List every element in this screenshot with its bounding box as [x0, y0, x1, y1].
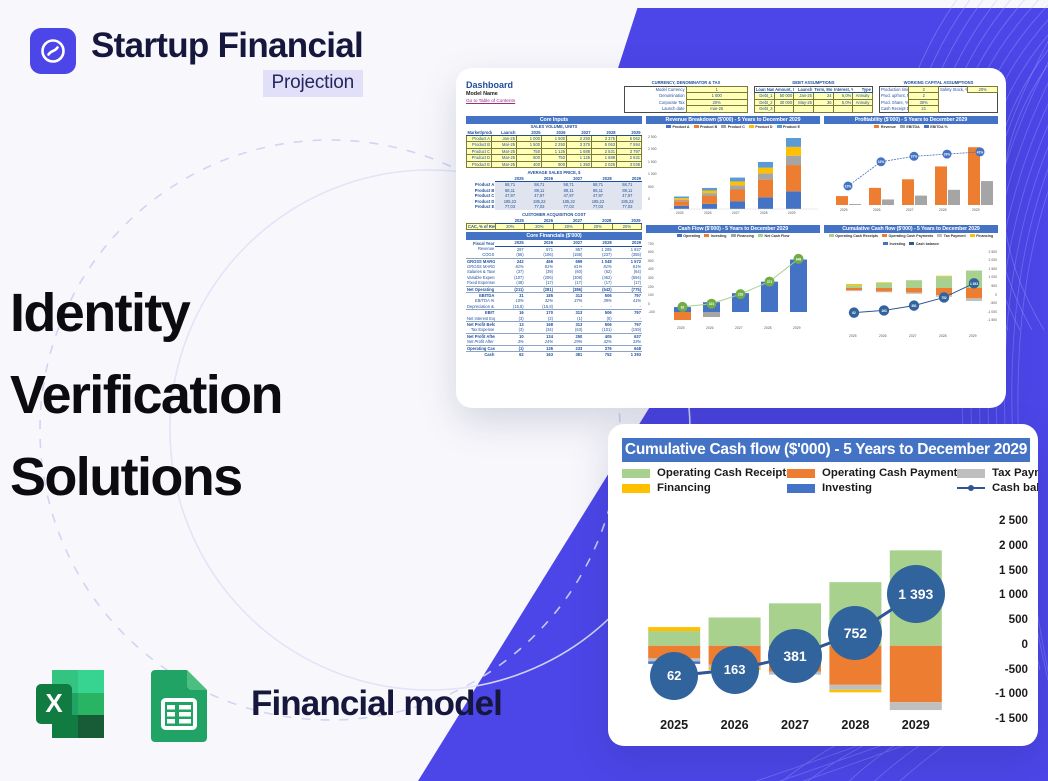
cash-balance-data-label: 1 393: [887, 565, 945, 623]
table-cell: 62: [495, 352, 524, 358]
bar-financing: [829, 690, 881, 693]
y-axis-tick-label: 500: [1009, 613, 1028, 626]
svg-text:218: 218: [738, 292, 744, 296]
table-row: Launch datemar-25: [625, 106, 748, 112]
sales-volume-table: Market/productLaunch20252026202720282029…: [466, 130, 642, 168]
legend-swatch: [622, 484, 650, 493]
dashboard-title: Dashboard: [466, 80, 624, 90]
x-tick-label: 2028: [939, 208, 947, 212]
table-cell: Salaries & Taxes: [466, 269, 495, 274]
y-tick-label: 0: [995, 293, 997, 297]
y-axis-tick-label: -1 500: [995, 712, 1028, 725]
svg-text:648: 648: [796, 257, 802, 261]
table-cell: 900: [542, 161, 567, 167]
legend-item: Tax Payment: [957, 467, 1038, 479]
legend-item: Operating Cash Receipts: [622, 467, 787, 479]
table-cell: 2 025: [592, 161, 617, 167]
mini-plot: [646, 129, 820, 221]
table-cell: Cash Receipt Days: [879, 106, 909, 112]
svg-text:62: 62: [681, 305, 685, 309]
brand-subtitle: Projection: [263, 70, 364, 97]
table-cell: Operating Cash Flows: [466, 345, 495, 351]
table-cell: Mar-25: [492, 161, 517, 167]
table-cell: [774, 106, 794, 112]
core-financials-table: Fiscal Year20252026202720282029Revenue29…: [466, 240, 642, 357]
table-cell: Tax Expense: [466, 327, 495, 333]
bar-tax-payment: [829, 685, 881, 690]
chart-plot-area: 621633817521 3932 5002 0001 5001 0005000…: [622, 516, 1030, 736]
y-tick-label: 1 500: [989, 267, 998, 271]
y-tick-label: 400: [648, 267, 654, 271]
x-tick-label: 2027: [735, 326, 743, 330]
table-cell: [938, 106, 968, 112]
legend-swatch: [874, 125, 879, 128]
table-row: CAC, % of Revenue20%20%20%20%20%: [467, 223, 642, 229]
table-cell: Prod. Share, %: [879, 99, 909, 105]
legend-swatch: [758, 234, 763, 237]
table-cell: Prod. upfront, Mo: [879, 93, 909, 99]
table-cell: 77,03: [495, 204, 524, 209]
table-cell: Net Operating Expenses: [466, 286, 495, 292]
page-headline: IdentityVerificationSolutions: [10, 272, 282, 518]
y-tick-label: 500: [648, 259, 654, 263]
debt-table: Loan NameAmount, $LaunchTerm, MoInterest…: [754, 86, 873, 113]
headline-line: Identity: [10, 272, 282, 354]
table-cell: 77,03: [525, 204, 554, 209]
x-tick-label: 2027: [909, 334, 917, 338]
y-axis-tick-label: 0: [1022, 638, 1028, 651]
svg-text:37%: 37%: [911, 154, 918, 158]
dashboard-screenshot-card[interactable]: Dashboard Model Name Go to Table of Cont…: [456, 68, 1006, 408]
legend-item: Investing: [787, 482, 957, 494]
y-tick-label: 0: [648, 302, 650, 306]
bar-financing: [648, 627, 700, 631]
legend-swatch: [749, 125, 754, 128]
svg-text:101: 101: [709, 302, 715, 306]
table-cell: 163: [525, 352, 554, 358]
headline-line: Solutions: [10, 436, 282, 518]
table-cell: Launch date: [625, 106, 686, 112]
chart-title: Cumulative Cash flow ($'000) - 5 Years t…: [622, 438, 1030, 462]
table-cell: 77,03: [554, 204, 583, 209]
svg-text:39%: 39%: [944, 152, 951, 156]
legend-swatch: [957, 484, 985, 493]
mini-chart-title: Revenue Breakdown ($'000) - 5 Years to D…: [646, 116, 820, 124]
legend-swatch: [731, 234, 736, 237]
table-cell: Term, Mo: [813, 87, 833, 93]
legend-swatch: [677, 234, 682, 237]
legend-swatch: [882, 234, 887, 237]
core-inputs-header: Core Inputs: [466, 116, 642, 124]
y-tick-label: 600: [648, 250, 654, 254]
y-tick-label: 2 000: [989, 258, 998, 262]
mini-chart-profitability[interactable]: Profitability ($'000) - 5 Years to Decem…: [824, 116, 998, 221]
brand-lockup: Startup Financial Projection: [30, 28, 363, 97]
table-cell: [794, 106, 814, 112]
cash-balance-data-label: 163: [711, 646, 759, 694]
legend-label: Financing: [657, 482, 711, 494]
toc-link[interactable]: Go to Table of Contents: [466, 98, 624, 103]
y-axis-tick-label: 1 500: [999, 564, 1028, 577]
legend-label: Financing: [976, 234, 993, 238]
y-axis-tick-label: -500: [1005, 663, 1028, 676]
table-cell: 20%: [554, 223, 583, 229]
table-cell: Debt_3: [754, 106, 774, 112]
x-tick-label: 2029: [793, 326, 801, 330]
link-loop-icon: [39, 37, 67, 65]
y-tick-label: -1 000: [987, 310, 997, 314]
legend-label: Operating Cash Receipts: [835, 234, 878, 238]
svg-text:X: X: [45, 688, 63, 718]
y-axis-tick-label: -1 000: [995, 687, 1028, 700]
mini-chart-cash-flow[interactable]: Cash Flow ($'000) - 5 Years to December …: [646, 225, 820, 346]
x-tick-label: 2028: [760, 211, 768, 215]
working-capital-table: Production time, Mo2Safety Stock, %20%Pr…: [879, 86, 998, 113]
x-tick-label: 2026: [704, 211, 712, 215]
y-tick-label: 500: [991, 284, 997, 288]
y-axis-tick-label: 2 000: [999, 539, 1028, 552]
legend-swatch: [777, 125, 782, 128]
footer-badges: X Financial model: [28, 662, 502, 746]
table-cell: [813, 106, 833, 112]
headline-line: Verification: [10, 354, 282, 436]
table-cell: Market/product: [467, 130, 492, 136]
svg-text:752: 752: [941, 295, 947, 299]
table-cell: Fixed Expenses: [466, 280, 495, 286]
table-cell: Net Interest Expense: [466, 316, 495, 322]
legend-item: Operating Cash Payments: [787, 467, 957, 479]
brand-mark: [30, 28, 76, 74]
bar-operating-cash-receipts: [648, 631, 700, 646]
x-tick-label: 2028: [939, 334, 947, 338]
table-cell: 77,03: [583, 204, 612, 209]
table-cell: 77,03: [613, 204, 642, 209]
table-cell: Safety Stock, %: [938, 87, 968, 93]
svg-text:41%: 41%: [977, 150, 984, 154]
table-cell: 20%: [583, 223, 612, 229]
bar-operating-cash-receipts: [709, 617, 761, 645]
cumulative-cash-flow-card[interactable]: Cumulative Cash flow ($'000) - 5 Years t…: [608, 424, 1038, 746]
x-tick-label: 2028: [764, 326, 772, 330]
legend-swatch: [970, 234, 975, 237]
legend-swatch: [909, 242, 914, 245]
table-cell: 381: [554, 352, 583, 358]
y-tick-label: 100: [648, 293, 654, 297]
avg-price-table: 20252026202720282029Product A58,7158,715…: [466, 176, 642, 209]
legend-label: Operating Cash Payments: [889, 234, 934, 238]
legend-swatch: [957, 469, 985, 478]
table-cell: 3 038: [617, 161, 642, 167]
table-cell: 1 350: [567, 161, 592, 167]
legend-item: Tax Payment: [937, 234, 965, 238]
x-tick-label: 2026: [706, 326, 714, 330]
spreadsheet-dashboard: Dashboard Model Name Go to Table of Cont…: [466, 80, 998, 394]
cash-balance-data-label: 381: [768, 629, 822, 683]
legend-item: Operating Cash Receipts: [829, 234, 878, 238]
x-tick-label: 2029: [972, 208, 980, 212]
svg-text:62: 62: [852, 311, 856, 315]
legend-item: Financing: [970, 234, 993, 238]
y-tick-label: 1 000: [989, 275, 998, 279]
legend-item: Cash balance: [957, 482, 1038, 494]
legend-swatch: [900, 125, 905, 128]
y-tick-label: -100: [648, 310, 655, 314]
y-tick-label: 2 500: [648, 135, 657, 139]
legend-item: Financing: [622, 482, 787, 494]
brand-title: Startup Financial: [91, 28, 363, 65]
table-cell: Net Profit After Tax %: [466, 339, 495, 345]
x-tick-label: 2027: [732, 211, 740, 215]
y-tick-label: 1 500: [648, 160, 657, 164]
table-cell: 20%: [496, 223, 525, 229]
legend-swatch: [829, 234, 834, 237]
model-name-label: Model Name: [466, 91, 624, 97]
legend-label: Tax Payment: [944, 234, 966, 238]
y-tick-label: 300: [648, 276, 654, 280]
legend-label: Cash balance: [992, 482, 1038, 494]
x-tick-label: 2025: [849, 334, 857, 338]
mini-chart-title: Profitability ($'000) - 5 Years to Decem…: [824, 116, 998, 124]
currency-table: Model Currency1Denomination1 000Corporat…: [624, 86, 748, 113]
table-cell: 21: [909, 106, 939, 112]
y-tick-label: 1 000: [648, 172, 657, 176]
legend-swatch: [937, 234, 942, 237]
y-tick-label: 200: [648, 285, 654, 289]
y-axis-tick-label: 1 000: [999, 588, 1028, 601]
mini-chart-title: Cumulative Cash flow ($'000) - 5 Years t…: [824, 225, 998, 233]
legend-swatch: [694, 125, 699, 128]
y-tick-label: 500: [648, 185, 654, 189]
x-tick-label: 2025: [840, 208, 848, 212]
table-cell: Product E: [466, 204, 495, 209]
table-cell: 752: [583, 352, 612, 358]
legend-label: Tax Payment: [992, 467, 1038, 479]
table-cell: [853, 106, 873, 112]
legend-swatch: [704, 234, 709, 237]
svg-text:10%: 10%: [845, 184, 852, 188]
y-tick-label: 2 500: [989, 250, 998, 254]
table-cell: 20%: [612, 223, 641, 229]
table-cell: Depreciation & Amortization: [466, 304, 495, 310]
x-tick-label: 2026: [879, 334, 887, 338]
bar-tax-payment: [890, 702, 942, 710]
cac-table: 20252026202720282029CAC, % of Revenue20%…: [466, 218, 642, 231]
table-cell: [833, 106, 853, 112]
bar-operating-cash-payments: [890, 646, 942, 702]
table-cell: 20%: [525, 223, 554, 229]
legend-label: Investing: [822, 482, 872, 494]
legend-label: Operating Cash Receipts: [657, 467, 792, 479]
y-tick-label: -1 500: [987, 318, 997, 322]
y-tick-label: -500: [990, 301, 997, 305]
y-tick-label: 2 000: [648, 147, 657, 151]
x-tick-label: 2025: [676, 211, 684, 215]
table-cell: mar-25: [686, 106, 747, 112]
table-cell: Amount, $: [774, 87, 794, 93]
x-tick-label: 2026: [873, 208, 881, 212]
table-cell: Loan Name: [754, 87, 774, 93]
google-sheets-icon: [137, 662, 221, 746]
table-cell: CAC, % of Revenue: [467, 223, 496, 229]
table-row: Product E77,0377,0377,0377,0377,03: [466, 204, 642, 209]
legend-swatch: [787, 484, 815, 493]
svg-text:163: 163: [881, 308, 887, 312]
footer-label: Financial model: [251, 684, 502, 724]
svg-text:381: 381: [911, 304, 917, 308]
x-axis-tick-label: 2029: [881, 718, 951, 732]
table-row: Cash Receipt Days21: [879, 106, 997, 112]
svg-text:32%: 32%: [878, 160, 885, 164]
x-tick-label: 2029: [969, 334, 977, 338]
legend-swatch: [622, 469, 650, 478]
table-row: Debt_3: [754, 106, 872, 112]
mini-chart-revenue-breakdown[interactable]: Revenue Breakdown ($'000) - 5 Years to D…: [646, 116, 820, 221]
svg-text:1 393: 1 393: [970, 281, 978, 285]
microsoft-excel-icon: X: [28, 662, 112, 746]
table-cell: Cash: [466, 352, 495, 358]
svg-text:371: 371: [767, 280, 773, 284]
mini-chart-legend: Operating Cash ReceiptsOperating Cash Pa…: [824, 234, 998, 246]
mini-chart-title: Cash Flow ($'000) - 5 Years to December …: [646, 225, 820, 233]
cash-balance-data-label: 62: [650, 652, 698, 700]
y-axis-tick-label: 2 500: [999, 514, 1028, 527]
chart-legend: Operating Cash ReceiptsOperating Cash Pa…: [622, 467, 1030, 494]
x-tick-label: 2025: [677, 326, 685, 330]
y-tick-label: 0: [648, 197, 650, 201]
x-tick-label: 2029: [788, 211, 796, 215]
legend-swatch: [666, 125, 671, 128]
table-row: Product EMar-254009001 3502 0253 038: [467, 161, 642, 167]
x-tick-label: 2027: [906, 208, 914, 212]
y-tick-label: 700: [648, 242, 654, 246]
legend-item: Operating Cash Payments: [882, 234, 933, 238]
mini-chart-cumulative-cash-flow[interactable]: Cumulative Cash flow ($'000) - 5 Years t…: [824, 225, 998, 346]
table-cell: 1 393: [613, 352, 642, 358]
table-cell: 400: [517, 161, 542, 167]
table-cell: Production time, Mo: [879, 87, 909, 93]
table-row: Cash621633817521 393: [466, 352, 642, 358]
legend-label: Operating Cash Payments: [822, 467, 964, 479]
legend-swatch: [883, 242, 888, 245]
legend-swatch: [787, 469, 815, 478]
legend-swatch: [721, 125, 726, 128]
table-cell: Interest, %: [833, 87, 853, 93]
table-cell: Product E: [467, 161, 492, 167]
table-cell: [968, 106, 998, 112]
legend-swatch: [924, 125, 929, 128]
core-financials-header: Core Financials ($'000): [466, 232, 642, 240]
